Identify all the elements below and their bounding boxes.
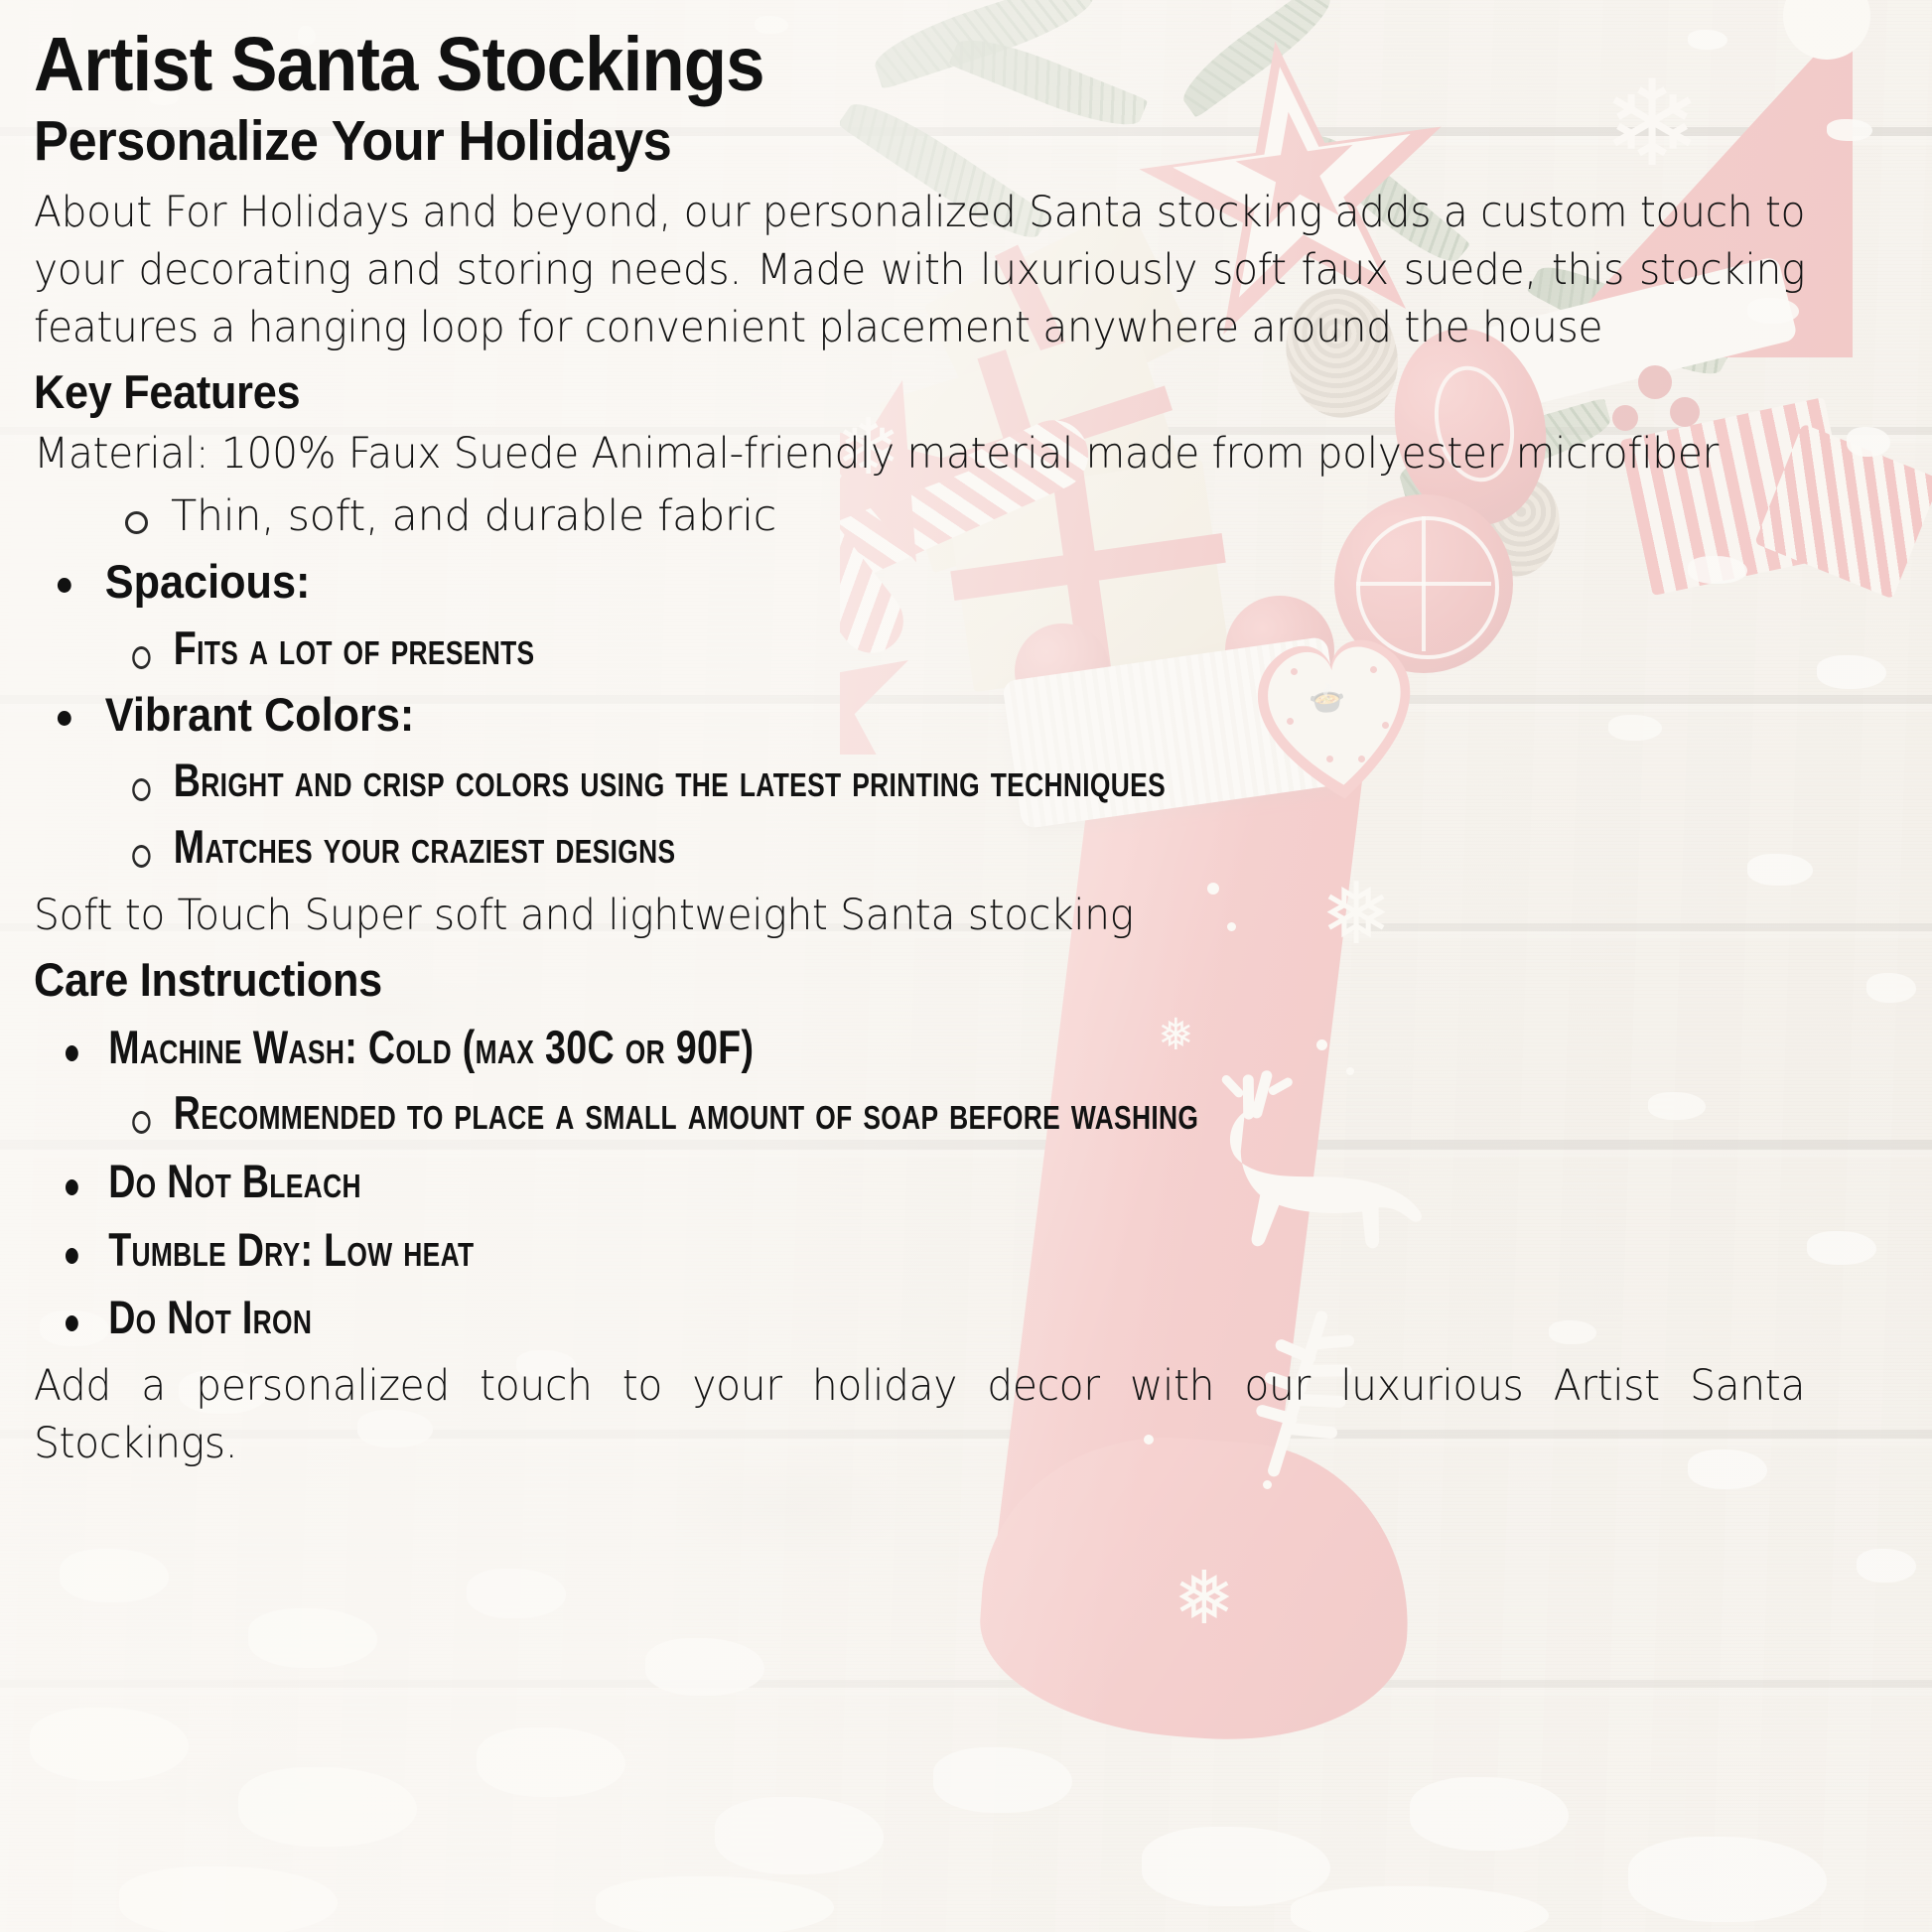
- care-sub-item-soap: Recommended to place a small amount of s…: [34, 1087, 1525, 1140]
- care-item-tumble-dry: Tumble Dry: Low heat: [34, 1224, 1525, 1277]
- care-item-machine-wash: Machine Wash: Cold (max 30C or 90F): [34, 1022, 1525, 1074]
- poster-text-content: Artist Santa Stockings Personalize Your …: [0, 0, 1932, 1932]
- care-instructions-heading: Care Instructions: [34, 954, 1749, 1006]
- material-sub-item: Thin, soft, and durable fabric: [34, 489, 1898, 545]
- care-item-do-not-bleach: Do Not Bleach: [34, 1156, 1525, 1208]
- spacious-label: Spacious:: [34, 556, 1749, 609]
- about-paragraph: About For Holidays and beyond, our perso…: [34, 185, 1805, 356]
- spacious-sub-item: Fits a lot of presents: [34, 622, 1525, 675]
- key-features-heading: Key Features: [34, 366, 1749, 418]
- soft-to-touch-line: Soft to Touch Super soft and lightweight…: [34, 888, 1805, 945]
- page-subtitle: Personalize Your Holidays: [34, 112, 1749, 172]
- vibrant-sub-item-1: Bright and crisp colors using the latest…: [34, 755, 1525, 807]
- vibrant-sub-item-2: Matches your craziest designs: [34, 821, 1525, 874]
- page-title: Artist Santa Stockings: [34, 26, 1749, 104]
- vibrant-colors-label: Vibrant Colors:: [34, 689, 1749, 742]
- poster-canvas: ❄: [0, 0, 1932, 1932]
- material-line: Material: 100% Faux Suede Animal-friendl…: [34, 426, 1805, 483]
- closing-paragraph: Add a personalized touch to your holiday…: [34, 1358, 1805, 1472]
- care-item-do-not-iron: Do Not Iron: [34, 1292, 1525, 1344]
